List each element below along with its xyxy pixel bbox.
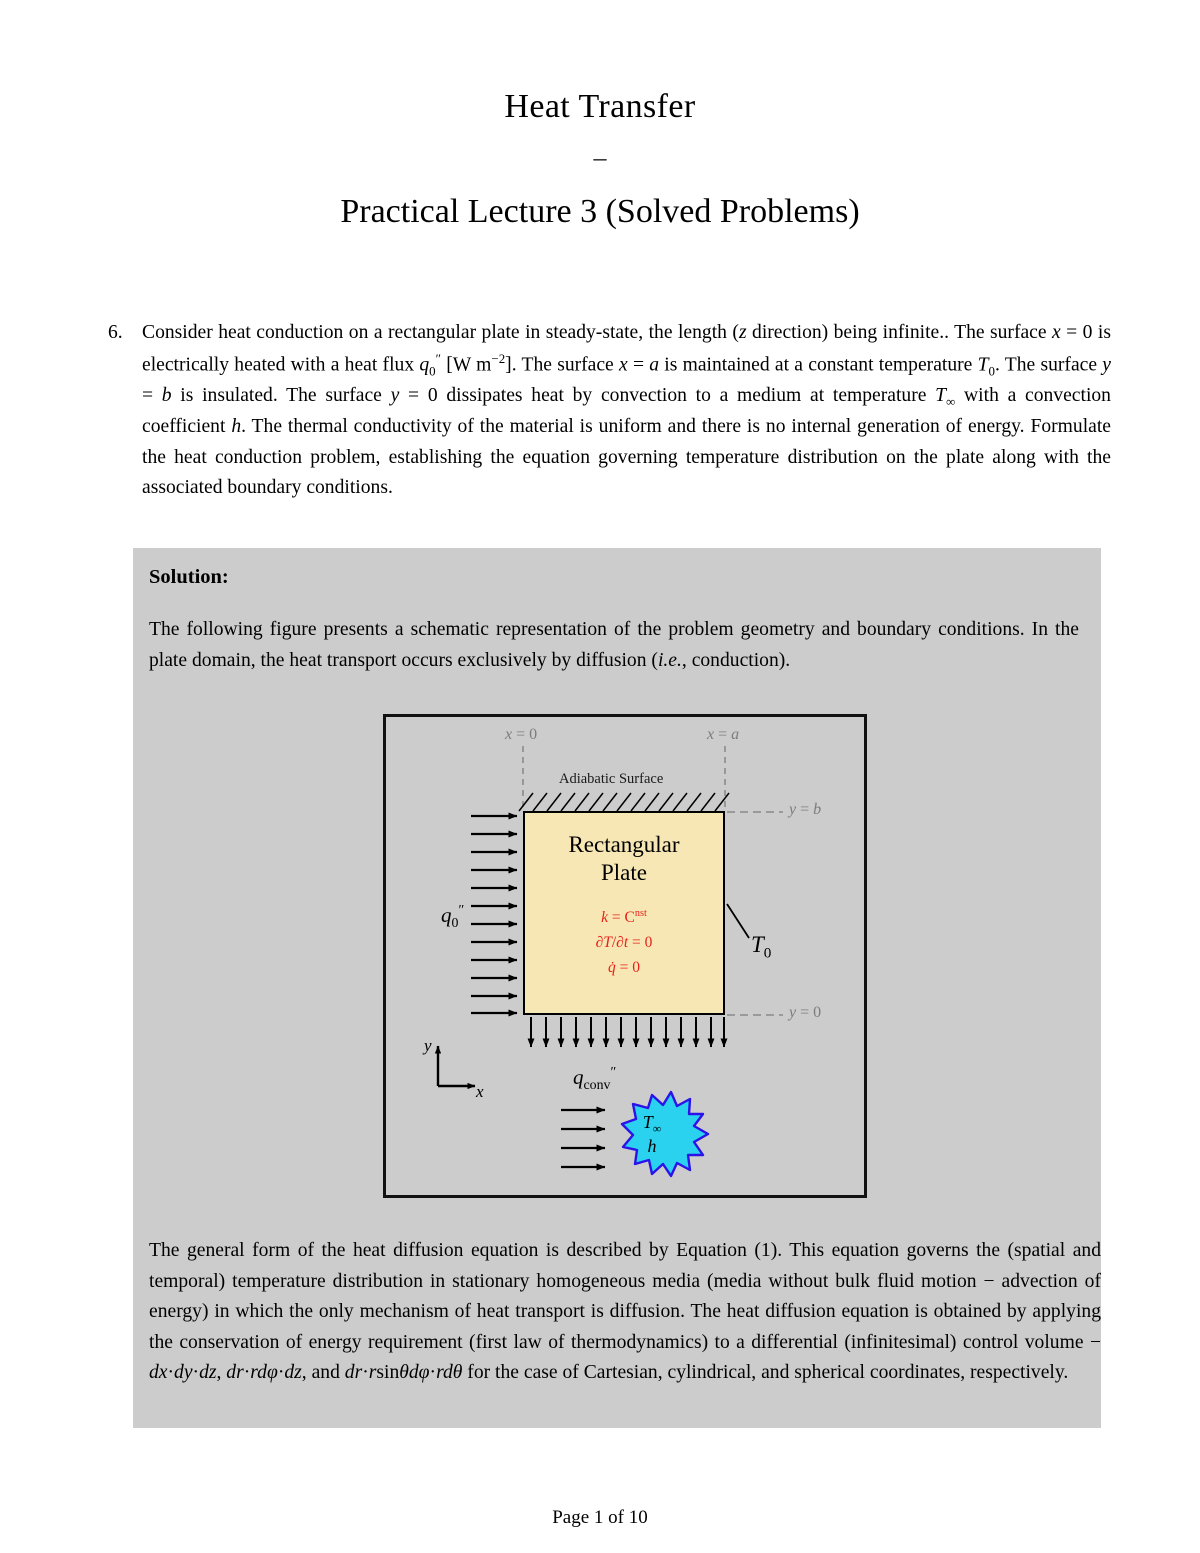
solution-panel: Solution: The following figure presents … — [133, 548, 1101, 1428]
plate-label-line1: Rectangular — [525, 831, 723, 859]
document-header: Heat Transfer – Practical Lecture 3 (Sol… — [0, 88, 1200, 231]
axis-label-x: x — [476, 1082, 484, 1102]
plate-properties: k = Cnst ∂T/∂t = 0 q̇ = 0 — [525, 905, 723, 980]
heat-flux-arrows-left — [471, 816, 517, 1013]
title-separator: – — [0, 145, 1200, 171]
fluid-temperature-label: T∞ — [621, 1112, 683, 1136]
label-x-equals-0: x = 0 — [505, 726, 537, 744]
plate-property-steady-state: ∂T/∂t = 0 — [525, 930, 723, 955]
adiabatic-hatching — [519, 793, 729, 811]
coordinate-axes — [438, 1046, 475, 1086]
schematic-figure: Rectangular Plate k = Cnst ∂T/∂t = 0 q̇ … — [383, 714, 867, 1198]
label-temperature-T0: T0 — [751, 932, 771, 963]
problem-number: 6. — [108, 318, 142, 349]
solution-heading: Solution: — [149, 566, 1079, 589]
convection-arrows-bottom — [531, 1017, 724, 1047]
label-y-equals-b: y = b — [789, 801, 821, 819]
problem-body: Consider heat conduction on a rectangula… — [142, 318, 1111, 504]
plate-label-line2: Plate — [525, 859, 723, 887]
axis-label-y: y — [424, 1036, 432, 1056]
rectangular-plate: Rectangular Plate k = Cnst ∂T/∂t = 0 q̇ … — [523, 811, 725, 1015]
figure-content: Rectangular Plate k = Cnst ∂T/∂t = 0 q̇ … — [383, 714, 867, 1198]
plate-property-no-generation: q̇ = 0 — [525, 955, 723, 980]
problem-statement: 6. Consider heat conduction on a rectang… — [108, 318, 1111, 504]
plate-property-conductivity: k = Cnst — [525, 905, 723, 930]
label-convective-flux: qconv″ — [573, 1064, 616, 1093]
label-adiabatic-surface: Adiabatic Surface — [559, 771, 663, 788]
fluid-flow-arrows — [561, 1110, 605, 1167]
label-x-equals-a: x = a — [707, 726, 739, 744]
page-title: Heat Transfer — [0, 88, 1200, 125]
plate-label: Rectangular Plate — [525, 831, 723, 887]
fluid-medium-label: T∞ h — [621, 1112, 683, 1157]
leader-line-T0 — [727, 904, 749, 938]
solution-closing-paragraph: The general form of the heat diffusion e… — [149, 1236, 1101, 1389]
page-footer: Page 1 of 10 — [0, 1507, 1200, 1529]
convection-coefficient-label: h — [621, 1136, 683, 1157]
label-heat-flux-q0: q0″ — [441, 902, 464, 931]
page-subtitle: Practical Lecture 3 (Solved Problems) — [0, 193, 1200, 230]
label-y-equals-0: y = 0 — [789, 1004, 821, 1022]
solution-intro-paragraph: The following figure presents a schemati… — [149, 615, 1079, 676]
